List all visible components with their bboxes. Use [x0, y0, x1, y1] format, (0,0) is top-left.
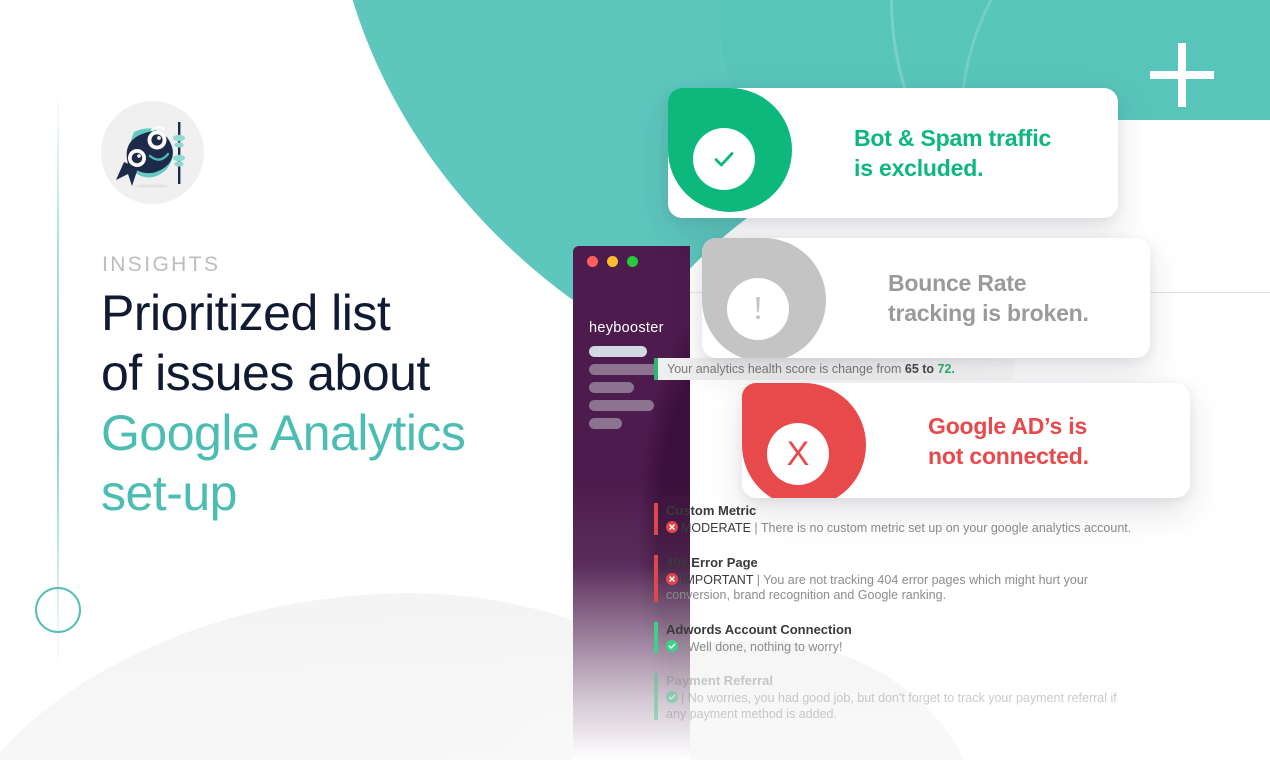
x-icon: X — [767, 423, 829, 485]
sidebar-item-3[interactable] — [589, 382, 634, 393]
sidebar-nav — [589, 346, 661, 436]
window-maximize-dot[interactable] — [627, 256, 638, 267]
issue-body: IMPORTANT | You are not tracking 404 err… — [666, 573, 1134, 604]
toast-card-success[interactable]: Bot & Spam traffic is excluded. — [668, 88, 1118, 218]
issue-severity-bar — [654, 555, 658, 602]
sidebar-item-1[interactable] — [589, 346, 647, 357]
issue-message: | There is no custom metric set up on yo… — [754, 521, 1131, 535]
sidebar-item-2[interactable] — [589, 364, 661, 375]
toast-message-line-2: tracking is broken. — [888, 298, 1089, 328]
health-score-to: 72. — [938, 362, 955, 376]
issue-message: | Well done, nothing to worry! — [681, 640, 842, 654]
window-controls — [587, 256, 638, 267]
toast-message: Google AD’s is not connected. — [928, 411, 1089, 471]
toast-message-line-1: Bounce Rate — [888, 268, 1089, 298]
list-item[interactable]: 404 Error Page IMPORTANT | You are not t… — [654, 554, 1134, 604]
issue-severity-label: IMPORTANT — [681, 573, 753, 587]
issue-severity-bar — [654, 622, 658, 654]
window-close-dot[interactable] — [587, 256, 598, 267]
toast-card-error[interactable]: X Google AD’s is not connected. — [742, 383, 1190, 498]
sidebar-item-5[interactable] — [589, 418, 622, 429]
error-badge-icon — [666, 521, 678, 533]
exclamation-icon: ! — [727, 278, 789, 340]
list-item[interactable]: Payment Referral | No worries, you had g… — [654, 672, 1134, 722]
health-score-text: Your analytics health score is change fr… — [658, 362, 955, 376]
list-item[interactable]: Custom Metric MODERATE | There is no cus… — [654, 502, 1134, 537]
success-badge-icon — [666, 691, 678, 703]
toast-message-line-1: Bot & Spam traffic — [854, 123, 1051, 153]
sidebar-brand: heybooster — [589, 320, 664, 336]
window-minimize-dot[interactable] — [607, 256, 618, 267]
issue-body: MODERATE | There is no custom metric set… — [666, 521, 1134, 537]
heybooster-fish-logo — [114, 114, 192, 192]
success-badge-icon — [666, 640, 678, 652]
issue-title: Adwords Account Connection — [666, 621, 1134, 638]
page-title: Prioritized list of issues about Google … — [101, 283, 621, 523]
toast-message-line-1: Google AD’s is — [928, 411, 1089, 441]
toast-icon-badge: ! — [702, 238, 826, 358]
toast-card-warning[interactable]: ! Bounce Rate tracking is broken. — [702, 238, 1150, 358]
issue-list: Custom Metric MODERATE | There is no cus… — [654, 502, 1134, 739]
health-score-from: 65 to — [905, 362, 938, 376]
health-score-prefix: Your analytics health score is change fr… — [667, 362, 905, 376]
headline-line-2: of issues about — [101, 343, 621, 403]
toast-message-line-2: is excluded. — [854, 153, 1051, 183]
issue-body: | Well done, nothing to worry! — [666, 640, 1134, 656]
issue-body: | No worries, you had good job, but don'… — [666, 691, 1134, 722]
issue-severity-label: MODERATE — [681, 521, 751, 535]
toast-message: Bot & Spam traffic is excluded. — [854, 123, 1051, 183]
headline-line-1: Prioritized list — [101, 283, 621, 343]
issue-title: 404 Error Page — [666, 554, 1134, 571]
list-item[interactable]: Adwords Account Connection | Well done, … — [654, 621, 1134, 656]
headline-line-3: Google Analytics — [101, 403, 621, 463]
exclamation-glyph: ! — [752, 292, 763, 326]
issue-title: Custom Metric — [666, 502, 1134, 519]
page-eyebrow: INSIGHTS — [102, 253, 220, 277]
sidebar-item-4[interactable] — [589, 400, 654, 411]
issue-severity-bar — [654, 673, 658, 720]
page-root: INSIGHTS Prioritized list of issues abou… — [0, 0, 1270, 760]
plus-icon — [1150, 43, 1214, 107]
toast-icon-badge: X — [742, 383, 866, 498]
left-vertical-rule — [57, 90, 59, 670]
x-glyph: X — [787, 437, 810, 471]
toast-icon-badge — [668, 88, 792, 212]
issue-title: Payment Referral — [666, 672, 1134, 689]
headline-line-4: set-up — [101, 463, 621, 523]
decorative-circle-outline — [35, 587, 81, 633]
toast-message-line-2: not connected. — [928, 441, 1089, 471]
issue-severity-bar — [654, 503, 658, 535]
error-badge-icon — [666, 573, 678, 585]
toast-message: Bounce Rate tracking is broken. — [888, 268, 1089, 328]
avatar — [101, 101, 204, 204]
check-icon — [693, 128, 755, 190]
issue-message: | No worries, you had good job, but don'… — [666, 691, 1117, 721]
health-score-banner: Your analytics health score is change fr… — [654, 358, 1014, 380]
